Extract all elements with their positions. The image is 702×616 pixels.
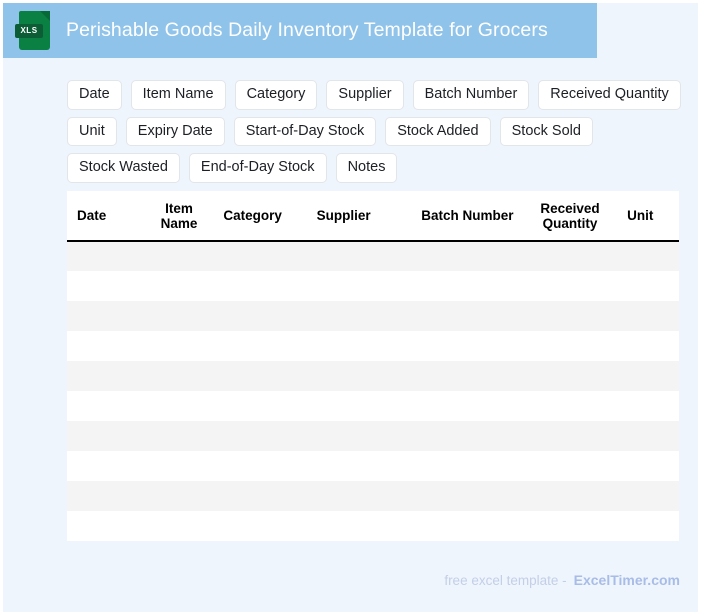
table-cell[interactable] [412,241,523,271]
table-cell[interactable] [678,421,679,451]
field-tag-end-of-day-stock[interactable]: End-of-Day Stock [189,153,327,183]
table-cell[interactable] [67,391,145,421]
xls-icon-fold [40,11,50,21]
template-page: XLS Perishable Goods Daily Inventory Tem… [0,0,702,616]
table-cell[interactable] [307,391,412,421]
table-cell[interactable] [307,331,412,361]
table-cell[interactable] [145,451,214,481]
table-cell[interactable] [523,481,617,511]
xls-icon-label: XLS [15,24,43,38]
table-cell[interactable] [412,511,523,541]
table-cell[interactable] [617,241,678,271]
table-cell[interactable] [145,241,214,271]
column-header-category[interactable]: Category [213,191,306,241]
table-cell[interactable] [523,271,617,301]
field-tag-received-quantity[interactable]: Received Quantity [538,80,680,110]
table-cell[interactable] [213,421,306,451]
table-cell[interactable] [67,271,145,301]
field-tag-stock-wasted[interactable]: Stock Wasted [67,153,180,183]
table-cell[interactable] [412,481,523,511]
table-cell[interactable] [412,421,523,451]
table-cell[interactable] [145,391,214,421]
inventory-table-viewport[interactable]: Date Item Name Category Supplier Batch N… [67,191,679,541]
table-row[interactable] [67,331,679,361]
table-cell[interactable] [678,511,679,541]
table-cell[interactable] [145,421,214,451]
table-cell[interactable] [523,331,617,361]
table-row[interactable] [67,241,679,271]
table-cell[interactable] [523,511,617,541]
table-cell[interactable] [412,271,523,301]
table-cell[interactable] [617,481,678,511]
table-cell[interactable] [617,421,678,451]
table-cell[interactable] [412,451,523,481]
table-cell[interactable] [678,241,679,271]
field-tag-start-of-day-stock[interactable]: Start-of-Day Stock [234,117,376,147]
table-cell[interactable] [412,391,523,421]
field-tag-item-name[interactable]: Item Name [131,80,226,110]
table-cell[interactable] [213,451,306,481]
column-header-item-name[interactable]: Item Name [145,191,214,241]
table-cell[interactable] [523,301,617,331]
table-cell[interactable] [678,331,679,361]
table-cell[interactable] [617,331,678,361]
xls-file-icon: XLS [19,11,50,50]
table-cell[interactable] [307,451,412,481]
field-tag-category[interactable]: Category [235,80,318,110]
table-body [67,241,679,541]
table-cell[interactable] [678,361,679,391]
table-cell[interactable] [617,271,678,301]
table-cell[interactable] [213,301,306,331]
table-cell[interactable] [678,301,679,331]
table-cell[interactable] [617,361,678,391]
column-header-supplier[interactable]: Supplier [307,191,412,241]
field-tag-stock-sold[interactable]: Stock Sold [500,117,593,147]
table-cell[interactable] [678,481,679,511]
table-row[interactable] [67,361,679,391]
table-cell[interactable] [213,271,306,301]
table-cell[interactable] [523,361,617,391]
column-header-unit[interactable]: Unit [617,191,678,241]
table-row[interactable] [67,391,679,421]
table-cell[interactable] [307,481,412,511]
table-row[interactable] [67,271,679,301]
footer-brand[interactable]: ExcelTimer.com [574,572,680,588]
table-cell[interactable] [145,481,214,511]
table-cell[interactable] [412,361,523,391]
table-cell[interactable] [523,421,617,451]
table-cell[interactable] [145,361,214,391]
table-cell[interactable] [307,421,412,451]
table-header-row: Date Item Name Category Supplier Batch N… [67,191,679,241]
table-cell[interactable] [145,271,214,301]
field-tag-unit[interactable]: Unit [67,117,117,147]
table-cell[interactable] [412,301,523,331]
field-tag-expiry-date[interactable]: Expiry Date [126,117,225,147]
table-cell[interactable] [617,511,678,541]
table-row[interactable] [67,421,679,451]
table-cell[interactable] [145,331,214,361]
table-cell[interactable] [67,451,145,481]
field-tag-supplier[interactable]: Supplier [326,80,403,110]
table-cell[interactable] [617,451,678,481]
column-header-received-quantity[interactable]: Received Quantity [523,191,617,241]
table-row[interactable] [67,481,679,511]
table-cell[interactable] [213,241,306,271]
footer-attribution: free excel template - ExcelTimer.com [444,572,680,588]
table-cell[interactable] [523,241,617,271]
page-title: Perishable Goods Daily Inventory Templat… [66,19,548,42]
field-tag-stock-added[interactable]: Stock Added [385,117,490,147]
field-tag-batch-number[interactable]: Batch Number [413,80,530,110]
field-tag-list: Date Item Name Category Supplier Batch N… [67,80,702,183]
table-cell[interactable] [617,391,678,421]
table-cell[interactable] [617,301,678,331]
table-cell[interactable] [307,241,412,271]
table-cell[interactable] [307,301,412,331]
table-cell[interactable] [213,391,306,421]
table-cell[interactable] [307,511,412,541]
table-header: Date Item Name Category Supplier Batch N… [67,191,679,241]
table-cell[interactable] [307,361,412,391]
table-cell[interactable] [213,511,306,541]
table-row[interactable] [67,511,679,541]
table-row[interactable] [67,301,679,331]
table-cell[interactable] [678,271,679,301]
table-cell[interactable] [523,451,617,481]
column-header-expiry-date[interactable]: Expiry Date [678,191,679,241]
table-cell[interactable] [412,331,523,361]
page-header-bar: XLS Perishable Goods Daily Inventory Tem… [3,3,597,58]
table-cell[interactable] [67,241,145,271]
table-cell[interactable] [145,301,214,331]
table-cell[interactable] [67,481,145,511]
field-tag-date[interactable]: Date [67,80,122,110]
column-header-date[interactable]: Date [67,191,145,241]
table-cell[interactable] [67,301,145,331]
inventory-table: Date Item Name Category Supplier Batch N… [67,191,679,541]
table-cell[interactable] [678,391,679,421]
table-cell[interactable] [213,331,306,361]
table-row[interactable] [67,451,679,481]
table-cell[interactable] [67,421,145,451]
column-header-batch-number[interactable]: Batch Number [412,191,523,241]
table-cell[interactable] [145,511,214,541]
table-cell[interactable] [678,451,679,481]
footer-lead-text: free excel template - [444,573,566,588]
table-cell[interactable] [67,511,145,541]
table-cell[interactable] [307,271,412,301]
table-cell[interactable] [213,361,306,391]
field-tag-notes[interactable]: Notes [336,153,398,183]
table-cell[interactable] [523,391,617,421]
table-cell[interactable] [213,481,306,511]
table-cell[interactable] [67,331,145,361]
table-cell[interactable] [67,361,145,391]
